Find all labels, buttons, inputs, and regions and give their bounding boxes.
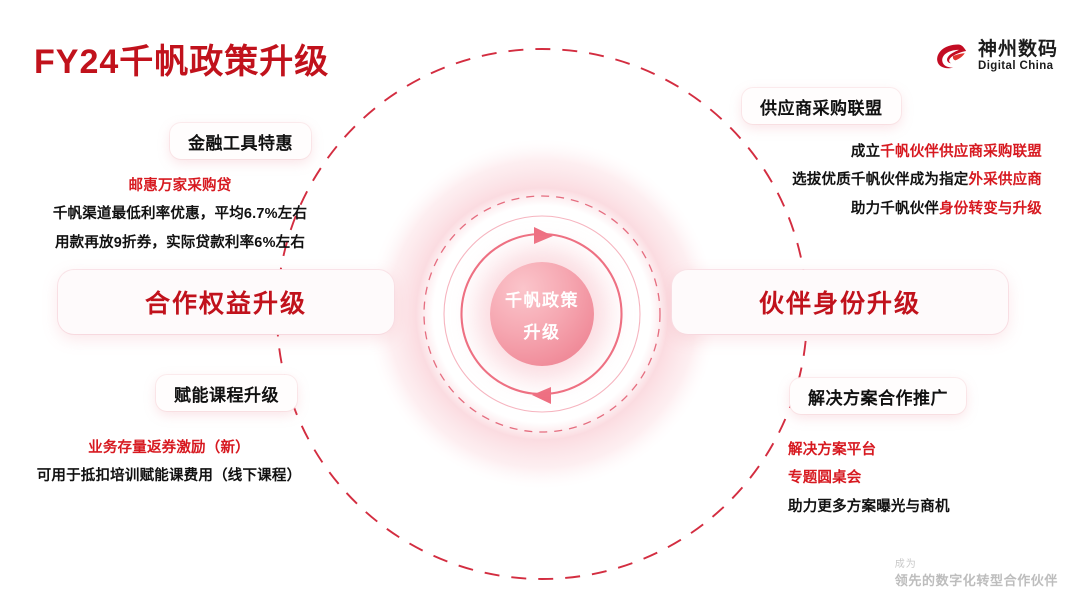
block-line: 助力更多方案曝光与商机 (788, 493, 950, 521)
page-title: FY24千帆政策升级 (34, 34, 329, 83)
pill-left-label: 合作权益升级 (145, 284, 307, 320)
arrow-head-bottom (532, 387, 551, 404)
block-line: 可用于抵扣培训赋能课费用（线下课程） (37, 462, 302, 490)
block-top-left: 邮惠万家采购贷 千帆渠道最低利率优惠，平均6.7%左右 用款再放9折券，实际贷款… (30, 172, 330, 257)
text-segment: 千帆伙伴供应商采购联盟 (880, 144, 1042, 160)
block-heading: 业务存量返券激励（新） (88, 434, 250, 462)
chip-solution-promotion[interactable]: 解决方案合作推广 (790, 378, 966, 414)
chip-financial-tools[interactable]: 金融工具特惠 (170, 123, 311, 159)
text-segment: 身份转变与升级 (939, 201, 1042, 217)
arrow-head-top (534, 227, 553, 244)
center-circle: 千帆政策 升级 (490, 262, 594, 366)
text-segment: 外采供应商 (969, 172, 1043, 188)
block-line: 助力千帆伙伴身份转变与升级 (851, 195, 1042, 223)
block-heading: 邮惠万家采购贷 (129, 172, 232, 200)
chip-label: 赋能课程升级 (174, 381, 279, 406)
block-bottom-right: 解决方案平台 专题圆桌会 助力更多方案曝光与商机 (788, 436, 1048, 521)
text-segment: 助力更多方案曝光与商机 (788, 499, 950, 515)
footer-small: 成为 (895, 558, 1058, 573)
block-bottom-left: 业务存量返券激励（新） 可用于抵扣培训赋能课费用（线下课程） (14, 434, 324, 491)
footer-watermark: 成为 领先的数字化转型合作伙伴 (895, 558, 1058, 591)
block-line: 千帆渠道最低利率优惠，平均6.7%左右 (53, 200, 307, 228)
chip-supplier-alliance[interactable]: 供应商采购联盟 (742, 88, 901, 124)
brand-logo: 神州数码 Digital China (933, 38, 1058, 74)
text-segment: 助力千帆伙伴 (851, 201, 939, 217)
text-segment: 选拔优质千帆伙伴成为指定 (792, 172, 968, 188)
brand-name-en: Digital China (978, 60, 1058, 72)
block-line: 成立千帆伙伴供应商采购联盟 (851, 138, 1042, 166)
chip-label: 金融工具特惠 (188, 129, 293, 154)
block-line: 选拔优质千帆伙伴成为指定外采供应商 (792, 166, 1042, 194)
chip-training-courses[interactable]: 赋能课程升级 (156, 375, 297, 411)
text-segment: 解决方案平台 (788, 442, 876, 458)
pill-right-label: 伙伴身份升级 (759, 284, 921, 320)
pill-partner-identity-upgrade[interactable]: 伙伴身份升级 (672, 270, 1008, 334)
digital-china-swirl-icon (933, 38, 969, 74)
footer-big: 领先的数字化转型合作伙伴 (895, 572, 1058, 591)
text-segment: 成立 (851, 144, 880, 160)
pill-partner-benefits-upgrade[interactable]: 合作权益升级 (58, 270, 394, 334)
chip-label: 供应商采购联盟 (760, 94, 883, 119)
block-top-right: 成立千帆伙伴供应商采购联盟 选拔优质千帆伙伴成为指定外采供应商 助力千帆伙伴身份… (720, 138, 1042, 223)
chip-label: 解决方案合作推广 (808, 384, 948, 409)
block-line: 专题圆桌会 (788, 464, 862, 492)
brand-name-cn: 神州数码 (978, 40, 1058, 61)
center-line-2: 升级 (524, 318, 561, 343)
text-segment: 专题圆桌会 (788, 470, 862, 486)
slide-canvas: FY24千帆政策升级 神州数码 Digital China 千帆政策 升级 合作… (0, 0, 1080, 605)
center-line-1: 千帆政策 (505, 286, 579, 311)
block-line: 解决方案平台 (788, 436, 876, 464)
block-line: 用款再放9折券，实际贷款利率6%左右 (55, 229, 305, 257)
